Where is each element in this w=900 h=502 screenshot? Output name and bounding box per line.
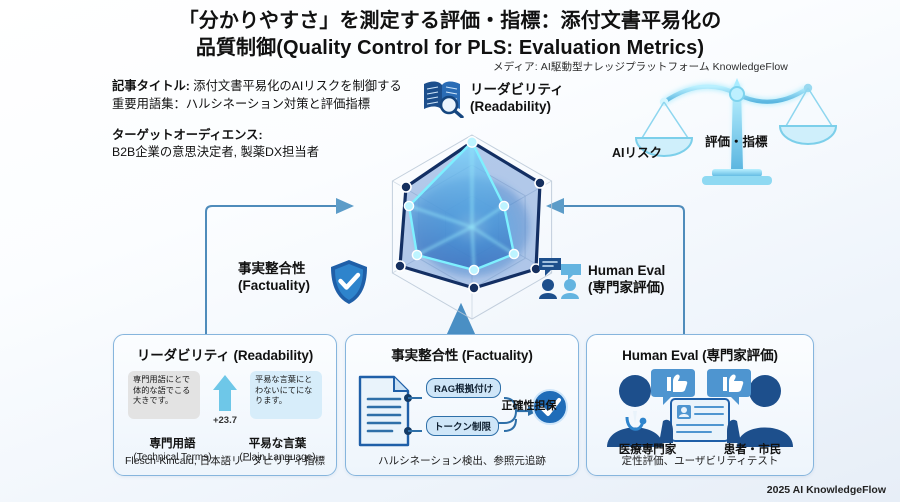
plain-language-jp: 平易な言葉 <box>225 435 330 451</box>
bubble-technical-terms: 専門用語にとで体的な語でこる大きです。 <box>128 371 200 419</box>
card-readability-body: 専門用語にとで体的な語でこる大きです。 平易な言葉にとわないにてになります。 +… <box>124 371 326 433</box>
readability-jp: リーダビリティ <box>470 82 564 99</box>
card-human-eval-body <box>593 367 807 445</box>
card-human-eval-footer: 定性評価、ユーザビリティテスト <box>587 453 813 468</box>
pill-rag-grounding: RAG根拠付け <box>426 378 501 398</box>
technical-terms-jp: 専門用語 <box>120 435 225 451</box>
readability-delta: +23.7 <box>213 415 237 426</box>
card-human-eval-title: Human Eval (専門家評価) <box>587 344 813 364</box>
card-human-eval[interactable]: Human Eval (専門家評価) <box>586 334 814 476</box>
human-eval-en: (専門家評価) <box>588 280 665 297</box>
shield-check-icon <box>328 258 370 311</box>
node-label-factuality: 事実整合性 (Factuality) <box>238 261 310 295</box>
article-title-line: 記事タイトル: 添付文書平易化のAIリスクを制御する重要用語集：ハルシネーション… <box>112 78 402 114</box>
audience-body: B2B企業の意思決定者, 製薬DX担当者 <box>112 145 319 159</box>
book-search-icon <box>420 76 466 123</box>
infographic-root: 「分かりやすさ」を測定する評価・指標：添付文書平易化の 品質制御(Quality… <box>0 0 900 502</box>
card-readability-footer: Flesch-Kincaid, 日本語リーダビリティ指標 <box>114 453 336 468</box>
people-chat-icon <box>537 256 583 305</box>
factuality-jp: 事実整合性 <box>238 261 310 278</box>
node-label-human-eval: Human Eval (専門家評価) <box>588 263 665 297</box>
readability-en: (Readability) <box>470 99 564 116</box>
article-title-lead: 記事タイトル: <box>112 79 190 93</box>
card-factuality[interactable]: 事実整合性 (Factuality) <box>345 334 579 476</box>
page-footer: 2025 AI KnowledgeFlow <box>767 484 886 496</box>
card-factuality-title: 事実整合性 (Factuality) <box>346 344 578 364</box>
pill-token-limit: トークン制限 <box>426 416 499 436</box>
improvement-arrow-icon <box>212 373 238 418</box>
scale-label-metrics: 評価・指標 <box>705 131 768 150</box>
node-label-readability: リーダビリティ (Readability) <box>470 82 564 116</box>
scale-label-ai-risk: AIリスク <box>612 142 662 161</box>
title-line-1: 「分かりやすさ」を測定する評価・指標：添付文書平易化の <box>179 10 722 32</box>
card-readability[interactable]: リーダビリティ (Readability) 専門用語にとで体的な語でこる大きです… <box>113 334 337 476</box>
card-readability-title: リーダビリティ (Readability) <box>114 344 336 364</box>
page-title: 「分かりやすさ」を測定する評価・指標：添付文書平易化の 品質制御(Quality… <box>0 8 900 62</box>
bubble-plain-language: 平易な言葉にとわないにてになります。 <box>250 371 322 419</box>
card-factuality-footer: ハルシネーション検出、参照元追跡 <box>346 453 578 468</box>
factuality-en: (Factuality) <box>238 278 310 295</box>
human-eval-jp: Human Eval <box>588 263 665 280</box>
factuality-result-label: 正確性担保 <box>486 397 572 413</box>
title-line-2: 品質制御(Quality Control for PLS: Evaluation… <box>0 35 900 62</box>
